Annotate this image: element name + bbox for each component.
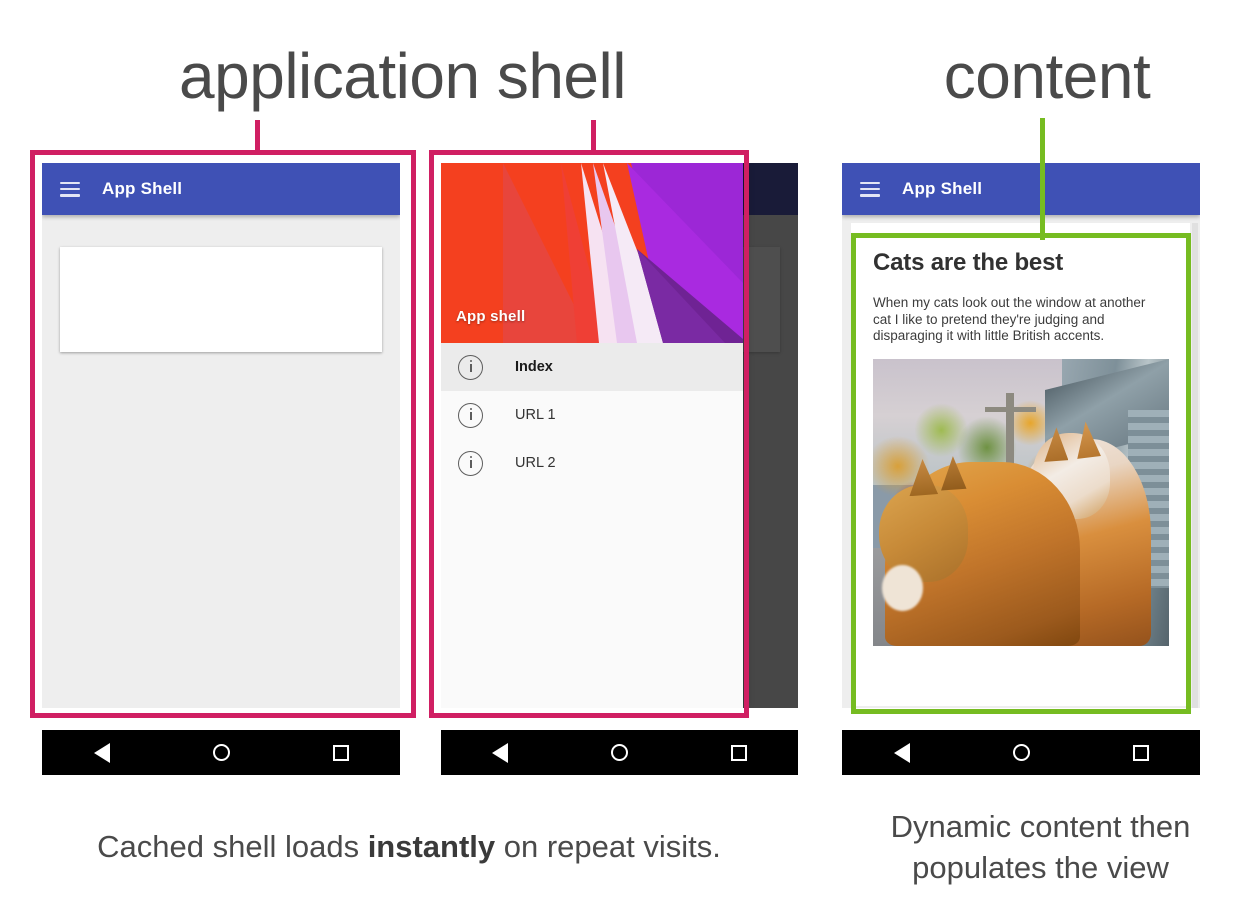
app-bar: App Shell [842,163,1200,215]
diagram-canvas: application shell content App Shell [0,0,1249,923]
placeholder-card [60,247,382,352]
caption-dynamic-content: Dynamic content then populates the view [832,806,1249,888]
app-bar: App Shell [42,163,400,215]
caption-left-emphasis: instantly [368,829,495,864]
caption-cached-shell: Cached shell loads instantly on repeat v… [0,826,818,867]
drawer-item-label: Index [515,359,553,375]
home-circle-icon[interactable] [611,744,628,761]
drawer-header: App shell [441,163,743,343]
android-navbar [441,730,798,775]
back-triangle-icon[interactable] [94,743,110,763]
leader-line-app-shell-left [255,120,260,154]
article-card: Cats are the best When my cats look out … [851,223,1190,706]
scrollbar[interactable] [1192,223,1198,708]
home-circle-icon[interactable] [213,744,230,761]
app-bar-title: App Shell [102,179,182,199]
back-triangle-icon[interactable] [492,743,508,763]
leader-line-app-shell-right [591,120,596,154]
android-navbar [842,730,1200,775]
cat-front-chest [882,565,923,611]
drawer-item-index[interactable]: Index [441,343,743,391]
utility-pole-arm [985,407,1035,412]
hamburger-menu-icon[interactable] [60,182,80,197]
drawer-header-label: App shell [456,308,525,325]
caption-left-before: Cached shell loads [97,829,368,864]
shell-body [42,215,400,708]
back-triangle-icon[interactable] [894,743,910,763]
drawer-list: Index URL 1 URL 2 [441,343,743,487]
app-bar-title: App Shell [902,179,982,199]
drawer-item-label: URL 2 [515,455,556,471]
phone-app-shell-empty: App Shell [42,163,400,708]
page-title-content: content [845,36,1249,116]
leader-line-content [1040,118,1045,240]
caption-right-line-2: populates the view [832,847,1249,888]
phone-app-shell-drawer: App shell Index URL 1 URL 2 [441,163,798,708]
recents-square-icon[interactable] [1133,745,1149,761]
drawer-item-url-2[interactable]: URL 2 [441,439,743,487]
drawer-item-label: URL 1 [515,407,556,423]
info-circle-icon [458,403,483,428]
recents-square-icon[interactable] [731,745,747,761]
hamburger-menu-icon[interactable] [860,182,880,197]
android-navbar [42,730,400,775]
drawer-item-url-1[interactable]: URL 1 [441,391,743,439]
article-body: When my cats look out the window at anot… [873,295,1151,345]
recents-square-icon[interactable] [333,745,349,761]
page-title-application-shell: application shell [0,36,805,116]
phone-content-loaded: App Shell Cats are the best When my cats… [842,163,1200,708]
cat-photo [873,359,1169,646]
caption-right-line-1: Dynamic content then [832,806,1249,847]
article-title: Cats are the best [873,249,1168,277]
info-circle-icon [458,355,483,380]
info-circle-icon [458,451,483,476]
content-body: Cats are the best When my cats look out … [842,215,1200,708]
navigation-drawer: App shell Index URL 1 URL 2 [441,163,743,708]
home-circle-icon[interactable] [1013,744,1030,761]
caption-left-after: on repeat visits. [495,829,721,864]
